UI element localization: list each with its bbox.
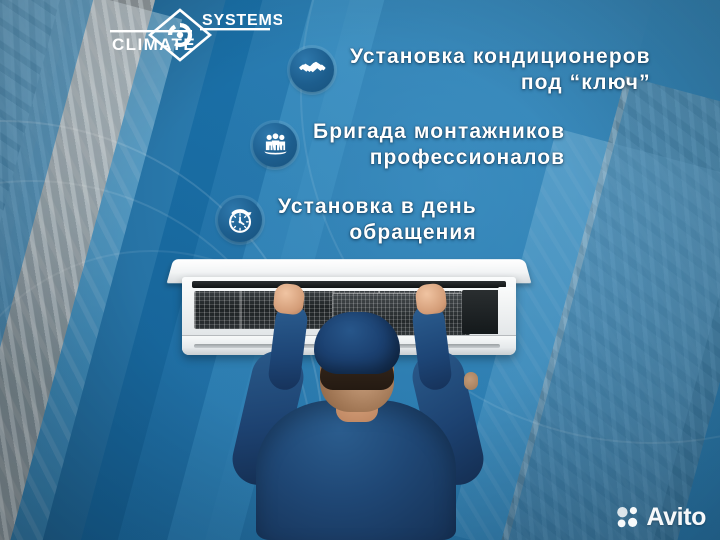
technician-hand-right [415, 283, 448, 316]
feature-text: Бригада монтажников профессионалов [313, 119, 565, 170]
group-people-icon [253, 123, 297, 167]
logo-word-climate: CLIMATE [112, 35, 196, 54]
avito-watermark: Avito [615, 504, 706, 530]
climate-systems-logo: CLIMATE SYSTEMS [92, 6, 282, 64]
feature-list: Установка кондиционеров под “ключ” Брига… [0, 44, 720, 268]
clock-arrow-icon [218, 198, 262, 242]
logo-word-systems: SYSTEMS [202, 12, 282, 29]
feature-item-professional-team: Бригада монтажников профессионалов [0, 119, 720, 170]
advertising-banner: CLIMATE SYSTEMS Установка кондиционеров … [0, 0, 720, 540]
diamond-fan-spiral-icon: CLIMATE SYSTEMS [92, 6, 282, 64]
technician-cap [314, 312, 400, 374]
ac-air-intake-slot [192, 281, 506, 288]
feature-text: Установка кондиционеров под “ключ” [350, 44, 651, 95]
technician-hand-left [273, 283, 306, 316]
technician-ear [464, 372, 478, 390]
installation-photo [0, 250, 720, 540]
feature-item-same-day-installation: Установка в день обращения [0, 194, 720, 245]
handshake-icon [290, 48, 334, 92]
avito-dots-icon [615, 504, 641, 530]
hvac-technician [232, 290, 482, 540]
feature-text: Установка в день обращения [278, 194, 477, 245]
avito-wordmark: Avito [646, 505, 706, 530]
